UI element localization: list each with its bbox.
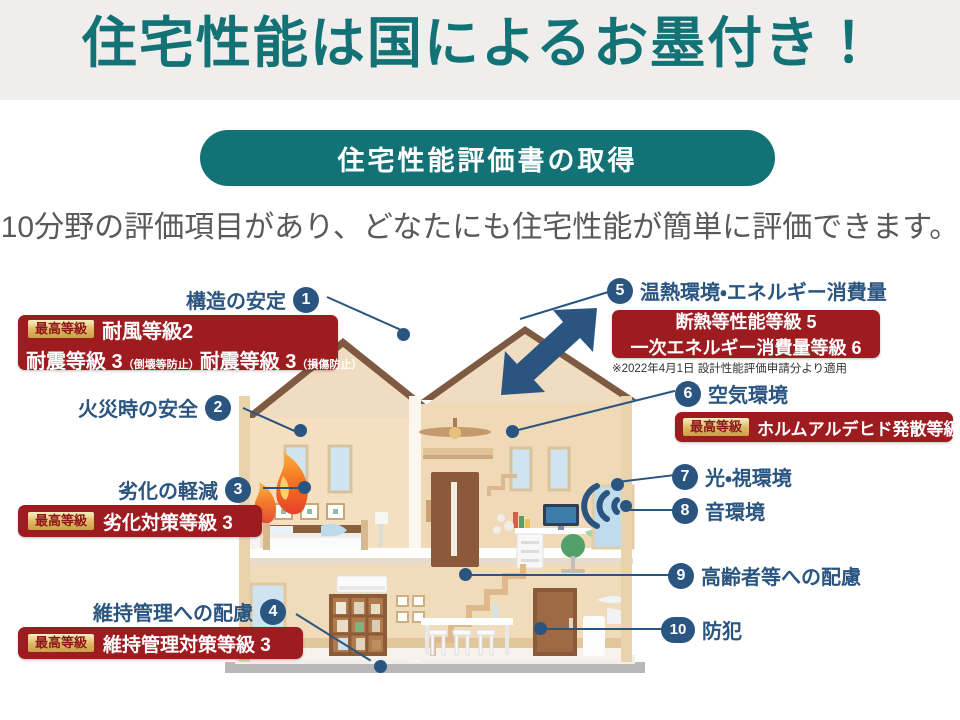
grade-box-1-line2a-note: （倒壊等防止） <box>123 356 200 372</box>
top-grade-badge-6: 最高等級 <box>683 418 749 436</box>
item-label-4-text: 維持管理への配慮 <box>93 597 253 626</box>
item-label-4: 維持管理への配慮 4 <box>93 597 286 626</box>
item-label-8: 8 音環境 <box>672 496 765 525</box>
item-number-9: 9 <box>668 563 694 589</box>
item-label-3-text: 劣化の軽減 <box>118 475 218 504</box>
grade-box-1-line1: 耐風等級2 <box>102 315 193 344</box>
item-number-5: 5 <box>607 278 633 304</box>
grade-box-5-line2: 一次エネルギー消費量等級 6 <box>630 334 861 360</box>
item-label-5-text: 温熱環境・エネルギー消費量 <box>640 276 887 305</box>
item-label-10: 10 防犯 <box>661 615 742 644</box>
item-label-6-text: 空気環境 <box>708 379 788 408</box>
item-number-4: 4 <box>260 599 286 625</box>
item-label-7-text: 光・視環境 <box>705 462 792 491</box>
connector-dot-9 <box>459 568 472 581</box>
item-label-9-text: 高齢者等への配慮 <box>701 561 861 590</box>
grade-box-5-note: ※2022年4月1日 設計性能評価申請分より適用 <box>612 360 847 376</box>
item-number-10: 10 <box>661 617 695 643</box>
item-label-7: 7 光・視環境 <box>672 462 792 491</box>
item-number-8: 8 <box>672 498 698 524</box>
item-label-2: 火災時の安全 2 <box>78 393 231 422</box>
grade-box-1-line2a: 耐震等級 3 <box>26 345 123 374</box>
item-number-6: 6 <box>675 381 701 407</box>
subtitle: 10分野の評価項目があり、どなたにも住宅性能が簡単に評価できます。 <box>0 202 960 246</box>
item-label-1: 構造の安定 1 <box>186 285 319 314</box>
section-pill-label: 住宅性能評価書の取得 <box>338 139 638 178</box>
connector-dot-4 <box>374 660 387 673</box>
grade-box-3-line1: 劣化対策等級 3 <box>103 508 233 535</box>
item-number-2: 2 <box>205 395 231 421</box>
item-label-9: 9 高齢者等への配慮 <box>668 561 861 590</box>
top-grade-badge-1: 最高等級 <box>28 320 94 338</box>
item-label-1-text: 構造の安定 <box>186 285 286 314</box>
grade-box-4: 最高等級 維持管理対策等級 3 <box>18 627 303 659</box>
connector-dot-10 <box>534 622 547 635</box>
item-label-3: 劣化の軽減 3 <box>118 475 251 504</box>
grade-box-1-line2b: 耐震等級 3 <box>200 345 297 374</box>
grade-box-5: 断熱等性能等級 5 一次エネルギー消費量等級 6 <box>612 310 880 358</box>
top-grade-badge-4: 最高等級 <box>28 634 94 652</box>
grade-box-4-line1: 維持管理対策等級 3 <box>103 630 271 657</box>
grade-box-6: 最高等級 ホルムアルデヒド発散等級3 <box>675 412 953 442</box>
top-grade-badge-3: 最高等級 <box>28 512 94 530</box>
connector-dot-2 <box>294 424 307 437</box>
infographic-root: 住宅性能は国によるお墨付き！ 住宅性能評価書の取得 10分野の評価項目があり、ど… <box>0 0 960 720</box>
item-label-10-text: 防犯 <box>702 615 742 644</box>
connector-dot-7 <box>611 478 624 491</box>
item-label-2-text: 火災時の安全 <box>78 393 198 422</box>
connector-dot-1 <box>397 328 410 341</box>
grade-box-3: 最高等級 劣化対策等級 3 <box>18 505 262 537</box>
connector-line-9 <box>470 574 670 576</box>
section-pill: 住宅性能評価書の取得 <box>200 130 775 186</box>
item-number-3: 3 <box>225 477 251 503</box>
connector-dot-3 <box>298 481 311 494</box>
connector-line-8 <box>630 509 674 511</box>
grade-box-1-line2b-note: （損傷防止） <box>296 356 362 372</box>
item-number-7: 7 <box>672 464 698 490</box>
item-label-6: 6 空気環境 <box>675 379 788 408</box>
item-label-5: 5 温熱環境・エネルギー消費量 <box>607 276 887 305</box>
grade-box-6-line1: ホルムアルデヒド発散等級3 <box>757 415 960 440</box>
page-title: 住宅性能は国によるお墨付き！ <box>0 14 960 75</box>
grade-box-5-line1: 断熱等性能等級 5 <box>675 308 816 334</box>
connector-dot-6 <box>506 425 519 438</box>
grade-box-1: 最高等級 耐風等級2 耐震等級 3 （倒壊等防止） 耐震等級 3 （損傷防止） <box>18 315 338 370</box>
item-label-8-text: 音環境 <box>705 496 765 525</box>
connector-line-10 <box>545 628 663 630</box>
item-number-1: 1 <box>293 287 319 313</box>
